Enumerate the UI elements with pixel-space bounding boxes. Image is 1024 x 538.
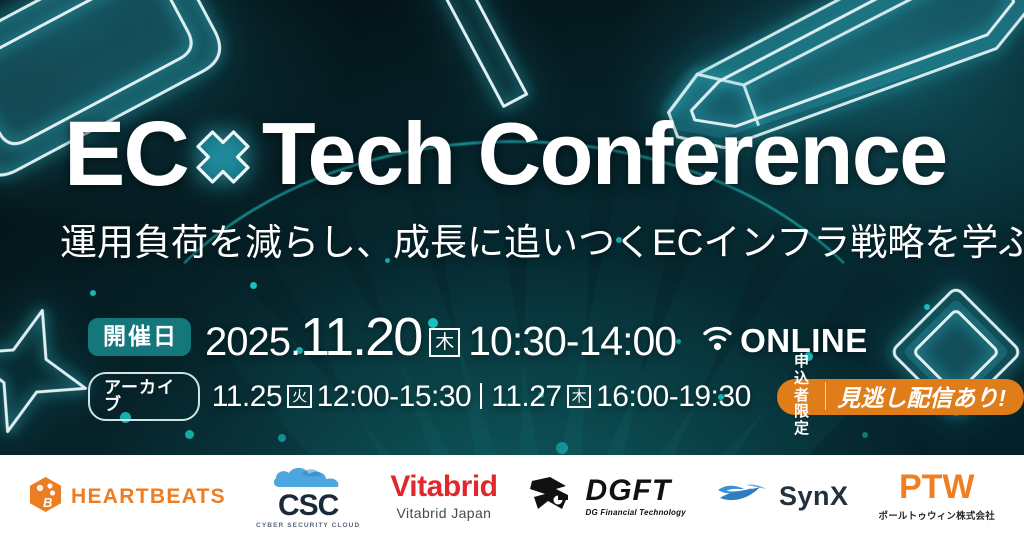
decorative-dot [90, 290, 96, 296]
replay-label: 見逃し配信あり! [837, 379, 1006, 413]
event-banner: EC Tech Conference 運用負荷を減らし、成長に追いつくECインフ… [0, 0, 1024, 538]
sponsor-logo-synx[interactable]: SynX [716, 480, 849, 513]
main-date-year: 2025. [205, 320, 300, 365]
decorative-dot [556, 442, 568, 454]
archive-dow-1: 火 [287, 385, 312, 408]
hero-section: EC Tech Conference 運用負荷を減らし、成長に追いつくECインフ… [0, 0, 1024, 455]
ptw-company-name: ポールトゥウィン株式会社 [879, 508, 995, 522]
applicants-only-line2: 限定 [794, 403, 810, 437]
decorative-dot [250, 282, 257, 289]
title-part-ec: EC [64, 108, 188, 200]
archive-time-1: 12:00-15:30 [317, 380, 472, 414]
ptw-wordmark: PTW [899, 471, 975, 503]
archive-time-2: 16:00-19:30 [596, 380, 751, 414]
main-date-dayofweek: 木 [429, 328, 460, 357]
applicants-only-line1: 申込者 [794, 353, 810, 404]
event-subtitle: 運用負荷を減らし、成長に追いつくECインフラ戦略を学ぶ [60, 212, 1000, 266]
sponsor-logo-ptw[interactable]: PTW ポールトゥウィン株式会社 [879, 471, 995, 521]
sponsor-logo-bar: B HEARTBEATS CSC CYBER SECURITY CLOUD Vi… [0, 455, 1024, 538]
vitabrid-wordmark: Vitabrid [390, 472, 497, 502]
event-title: EC Tech Conference [64, 108, 994, 200]
dgft-tagline: DG Financial Technology [586, 508, 686, 517]
main-date-line: 2025. 11.20 木 10:30-14:00 ONLINE [205, 306, 868, 368]
sponsor-logo-heartbeats[interactable]: B HEARTBEATS [29, 476, 226, 518]
csc-cloud-icon [272, 465, 344, 492]
title-part-tech-conference: Tech Conference [262, 110, 947, 198]
archive-divider [480, 383, 482, 409]
main-date-monthday: 11.20 [300, 306, 421, 368]
main-date-row: 開催日 2025. 11.20 木 10:30-14:00 ONLINE [88, 306, 868, 368]
dgft-text-block: DGFT DG Financial Technology [586, 476, 686, 517]
dgft-wordmark: DGFT [586, 476, 686, 506]
heartbeats-hexagon-icon: B [29, 476, 62, 518]
main-date-time: 10:30-14:00 [468, 318, 676, 365]
heartbeats-wordmark: HEARTBEATS [71, 485, 226, 509]
applicants-only-label: 申込者 限定 [791, 354, 813, 438]
sponsor-logo-csc[interactable]: CSC CYBER SECURITY CLOUD [256, 465, 360, 529]
online-format: ONLINE [702, 322, 868, 360]
vitabrid-tagline: Vitabrid Japan [396, 505, 491, 521]
kaisaibi-badge: 開催日 [88, 318, 191, 356]
archive-date-2: 11.27 [491, 380, 561, 414]
decorative-dot [185, 430, 194, 439]
wifi-icon [702, 322, 733, 360]
archive-date-1: 11.25 [212, 380, 282, 414]
archive-date-line: 11.25 火 12:00-15:30 11.27 木 16:00-19:30 [212, 380, 751, 414]
decorative-dot [278, 434, 286, 442]
decorative-dot [862, 432, 868, 438]
synx-wave-icon [716, 480, 770, 513]
wireframe-bar-topmiddle-icon [330, 0, 590, 100]
x-cross-icon [192, 114, 254, 202]
csc-wordmark: CSC [278, 492, 338, 519]
sponsor-logo-dgft[interactable]: DGFT DG Financial Technology [528, 475, 686, 518]
archive-date-row: アーカイブ 11.25 火 12:00-15:30 11.27 木 16:00-… [88, 372, 1024, 421]
archive-badge: アーカイブ [88, 372, 200, 421]
csc-tagline: CYBER SECURITY CLOUD [256, 522, 360, 529]
decorative-dot [924, 304, 930, 310]
svg-text:B: B [43, 495, 52, 510]
replay-available-badge: 申込者 限定 見逃し配信あり! [777, 379, 1024, 415]
dgft-mark-icon [528, 475, 578, 518]
synx-wordmark: SynX [779, 481, 849, 512]
sponsor-logo-vitabrid[interactable]: Vitabrid Vitabrid Japan [390, 472, 497, 521]
wireframe-star-left-icon [0, 296, 100, 446]
archive-dow-2: 木 [567, 385, 592, 408]
